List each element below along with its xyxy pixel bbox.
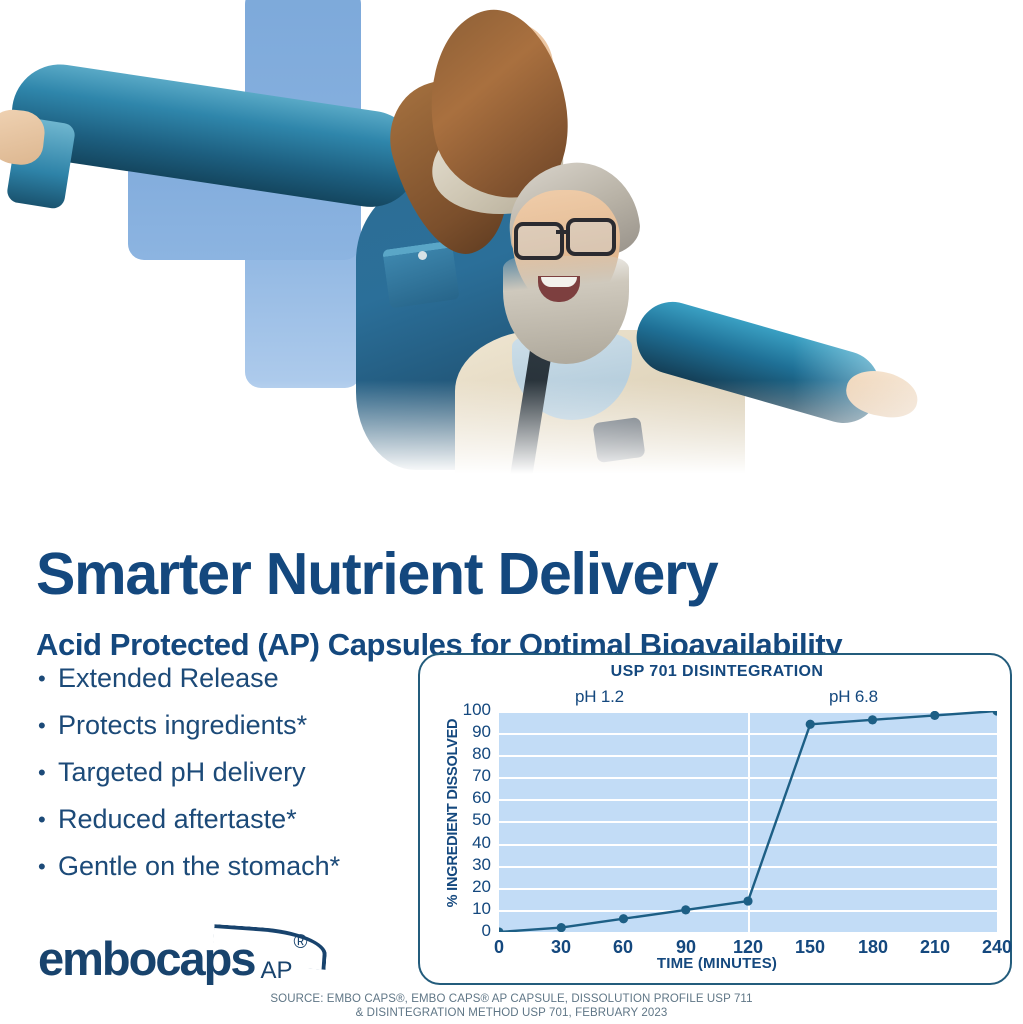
benefits-list: Extended Release Protects ingredients* T… (36, 655, 416, 890)
y-tick-label: 100 (431, 700, 491, 720)
y-tick-label: 10 (431, 899, 491, 919)
logo-wordmark: embocaps (38, 935, 254, 982)
list-item: Protects ingredients* (36, 702, 416, 749)
x-tick-label: 180 (843, 937, 903, 958)
list-item: Reduced aftertaste* (36, 796, 416, 843)
denim-button (418, 251, 427, 260)
data-point (806, 720, 815, 729)
page-title: Smarter Nutrient Delivery (36, 545, 1016, 604)
x-tick-label: 90 (656, 937, 716, 958)
data-point (930, 711, 939, 720)
y-tick-label: 20 (431, 877, 491, 897)
y-tick-label: 40 (431, 833, 491, 853)
data-point (992, 711, 997, 716)
source-citation: SOURCE: EMBO CAPS®, EMBO CAPS® AP CAPSUL… (0, 992, 1023, 1020)
chart-annotation-ph-6-8: pH 6.8 (829, 687, 878, 707)
x-tick-label: 210 (905, 937, 965, 958)
x-tick-label: 120 (718, 937, 778, 958)
x-tick-label: 150 (780, 937, 840, 958)
hero-bottom-fade (0, 380, 1023, 500)
data-point (557, 923, 566, 932)
chart-series-svg (499, 711, 997, 932)
x-tick-label: 60 (593, 937, 653, 958)
x-tick-label: 0 (469, 937, 529, 958)
embocaps-logo: embocaps AP ® (38, 935, 308, 985)
data-point (743, 896, 752, 905)
x-tick-label: 30 (531, 937, 591, 958)
man-teeth (541, 277, 577, 287)
y-tick-label: 30 (431, 855, 491, 875)
chart-plot-area: 100 90 80 70 60 50 40 30 20 10 0 0 30 60… (499, 711, 997, 932)
data-point (619, 914, 628, 923)
logo-swoosh-icon (212, 924, 328, 970)
source-line-1: SOURCE: EMBO CAPS®, EMBO CAPS® AP CAPSUL… (0, 992, 1023, 1006)
list-item: Extended Release (36, 655, 416, 702)
data-point (681, 905, 690, 914)
eyeglasses-bridge (556, 230, 569, 234)
data-point (868, 715, 877, 724)
list-item: Gentle on the stomach* (36, 843, 416, 890)
y-tick-label: 90 (431, 722, 491, 742)
chart-annotation-ph-1-2: pH 1.2 (575, 687, 624, 707)
y-tick-label: 50 (431, 810, 491, 830)
chart-plot-background (499, 711, 997, 932)
y-tick-label: 70 (431, 766, 491, 786)
data-point (499, 927, 504, 932)
eyeglasses-lens (566, 218, 616, 256)
source-line-2: & DISINTEGRATION METHOD USP 701, FEBRUAR… (0, 1006, 1023, 1020)
y-tick-label: 80 (431, 744, 491, 764)
x-tick-label: 240 (967, 937, 1023, 958)
y-tick-label: 60 (431, 788, 491, 808)
usp-701-disintegration-chart: USP 701 DISINTEGRATION pH 1.2 pH 6.8 % I… (418, 653, 1012, 985)
chart-title: USP 701 DISINTEGRATION (420, 663, 1014, 681)
hero-image (0, 0, 1023, 500)
eyeglasses-lens (514, 222, 564, 260)
list-item: Targeted pH delivery (36, 749, 416, 796)
